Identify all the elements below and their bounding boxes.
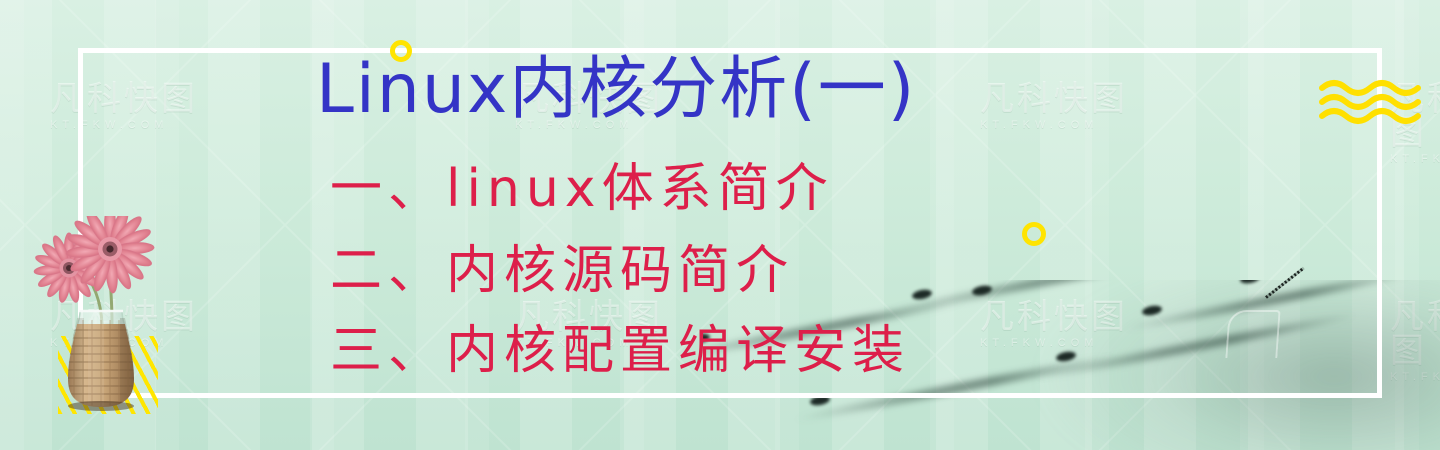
- yellow-wave-lines-icon: [1318, 78, 1428, 126]
- agenda-item-3: 三、内核配置编译安装: [330, 322, 910, 380]
- agenda-item-1: 一、linux体系简介: [330, 160, 834, 218]
- watermark-main-text: 凡科快图: [1390, 300, 1440, 368]
- page-title: Linux内核分析(一): [316, 50, 1096, 130]
- slide-canvas: 凡科快图 KT.FKW.COM 凡科快图 KT.FKW.COM 凡科快图 KT.…: [0, 0, 1440, 450]
- watermark-sub-text: KT.FKW.COM: [1390, 154, 1440, 165]
- watermark-sub-text: KT.FKW.COM: [1390, 372, 1440, 383]
- yellow-ring-icon: [1022, 222, 1046, 246]
- pink-gerbera-daisies-in-wicker-vase: [22, 216, 180, 414]
- agenda-item-2: 二、内核源码简介: [330, 242, 794, 300]
- watermark: 凡科快图 KT.FKW.COM: [1390, 300, 1440, 383]
